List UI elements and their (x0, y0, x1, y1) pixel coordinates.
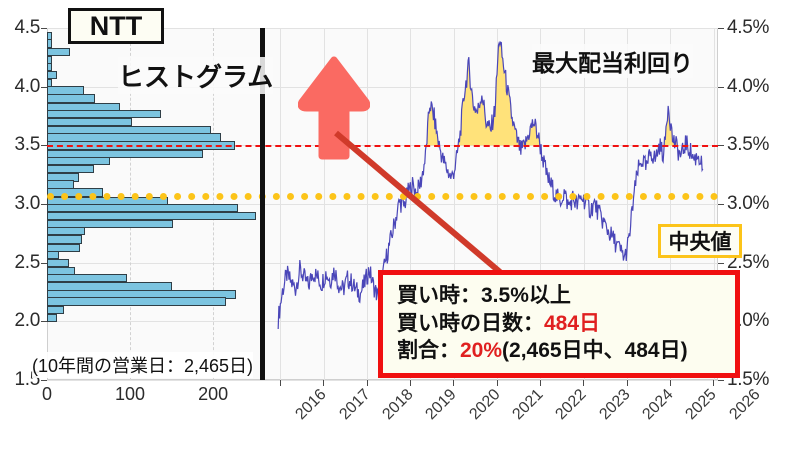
annotation-line-2: 買い時の日数：484日 (397, 310, 735, 338)
y-axis-label-right: 4.5% (727, 17, 769, 39)
x-tick-ts (453, 380, 454, 386)
y-axis-label-left: 4.5 (0, 17, 40, 39)
x-axis-label-hist: 100 (115, 384, 145, 405)
x-axis-label-year: 2019 (423, 386, 461, 424)
y-axis-label-left: 3.0 (0, 193, 40, 215)
median-label: 中央値 (658, 224, 742, 258)
chart-canvas: 1.51.5%2.02.0%2.52.5%3.03.0%3.53.5%4.04.… (0, 0, 800, 450)
histogram-bar (47, 39, 52, 47)
y-axis-label-left: 3.5 (0, 134, 40, 156)
histogram-bar (47, 212, 256, 220)
x-axis-label-year: 2024 (639, 386, 677, 424)
x-axis-label-year: 2017 (336, 386, 374, 424)
y-tick-left (41, 380, 47, 381)
timeseries-title: 最大配当利回り (532, 44, 693, 78)
histogram-bar (47, 297, 226, 305)
x-tick-ts (367, 380, 368, 386)
y-axis-label-left: 4.0 (0, 76, 40, 98)
histogram-title: ヒストグラム (118, 57, 273, 94)
histogram-bar (47, 110, 161, 118)
y-tick-right (718, 87, 724, 88)
x-tick-ts (410, 380, 411, 386)
x-tick-ts (540, 380, 541, 386)
x-axis-label-year: 2016 (293, 386, 331, 424)
histogram-bar (47, 48, 70, 56)
x-tick-ts (323, 380, 324, 386)
x-axis-label-hist: 200 (198, 384, 228, 405)
histogram-bar (47, 118, 132, 126)
y-tick-left (41, 321, 47, 322)
histogram-bar (47, 274, 127, 282)
histogram-bar (47, 314, 57, 322)
x-axis-label-hist: 0 (42, 384, 52, 405)
x-axis-label-year: 2018 (379, 386, 417, 424)
median-line (47, 193, 718, 200)
histogram-bar (47, 133, 221, 141)
x-axis-label-year: 2026 (726, 386, 764, 424)
x-axis-label-year: 2025 (683, 386, 721, 424)
y-tick-right (718, 263, 724, 264)
y-tick-right (718, 380, 724, 381)
histogram-bar (47, 259, 69, 267)
histogram-bar (47, 94, 95, 102)
histogram-bar (47, 86, 84, 94)
histogram-bar (47, 165, 94, 173)
ticker-label: NTT (68, 8, 164, 44)
y-tick-right (718, 145, 724, 146)
y-axis-label-right: 4.0% (727, 76, 769, 98)
histogram-bar (47, 282, 172, 290)
business-days-note: (10年間の営業日：2,465日) (32, 352, 253, 378)
annotation-box: 買い時：3.5%以上 買い時の日数：484日 割合：20%(2,465日中、48… (378, 270, 740, 378)
gridline-h (47, 380, 718, 381)
histogram-bar (47, 227, 85, 235)
up-arrow-icon (298, 56, 370, 160)
x-axis-label-year: 2022 (553, 386, 591, 424)
x-axis-label-year: 2020 (466, 386, 504, 424)
y-tick-left (41, 263, 47, 264)
histogram-bar (47, 235, 82, 243)
y-tick-right (718, 204, 724, 205)
threshold-line-3-5 (47, 145, 718, 147)
x-tick-ts (627, 380, 628, 386)
x-tick-ts (713, 380, 714, 386)
x-tick-ts (280, 380, 281, 386)
y-axis-label-right: 3.0% (727, 193, 769, 215)
y-tick-left (41, 87, 47, 88)
annotation-line-1: 買い時：3.5%以上 (397, 282, 735, 310)
x-axis-label-year: 2021 (509, 386, 547, 424)
x-tick-ts (583, 380, 584, 386)
y-axis-label-left: 2.5 (0, 252, 40, 274)
y-tick-left (41, 28, 47, 29)
histogram-bar (47, 180, 74, 188)
histogram-bar (47, 157, 110, 165)
y-axis-label-right: 3.5% (727, 134, 769, 156)
histogram-bar (47, 71, 57, 79)
histogram-bar (47, 63, 52, 71)
x-axis-label-year: 2023 (596, 386, 634, 424)
x-tick-ts (670, 380, 671, 386)
annotation-line-3: 割合：20%(2,465日中、484日) (397, 337, 735, 365)
histogram-bar (47, 251, 59, 259)
y-tick-right (718, 28, 724, 29)
histogram-bar (47, 306, 64, 314)
histogram-bar (47, 204, 238, 212)
y-axis-label-left: 2.0 (0, 310, 40, 332)
y-tick-left (41, 204, 47, 205)
x-tick-ts (497, 380, 498, 386)
